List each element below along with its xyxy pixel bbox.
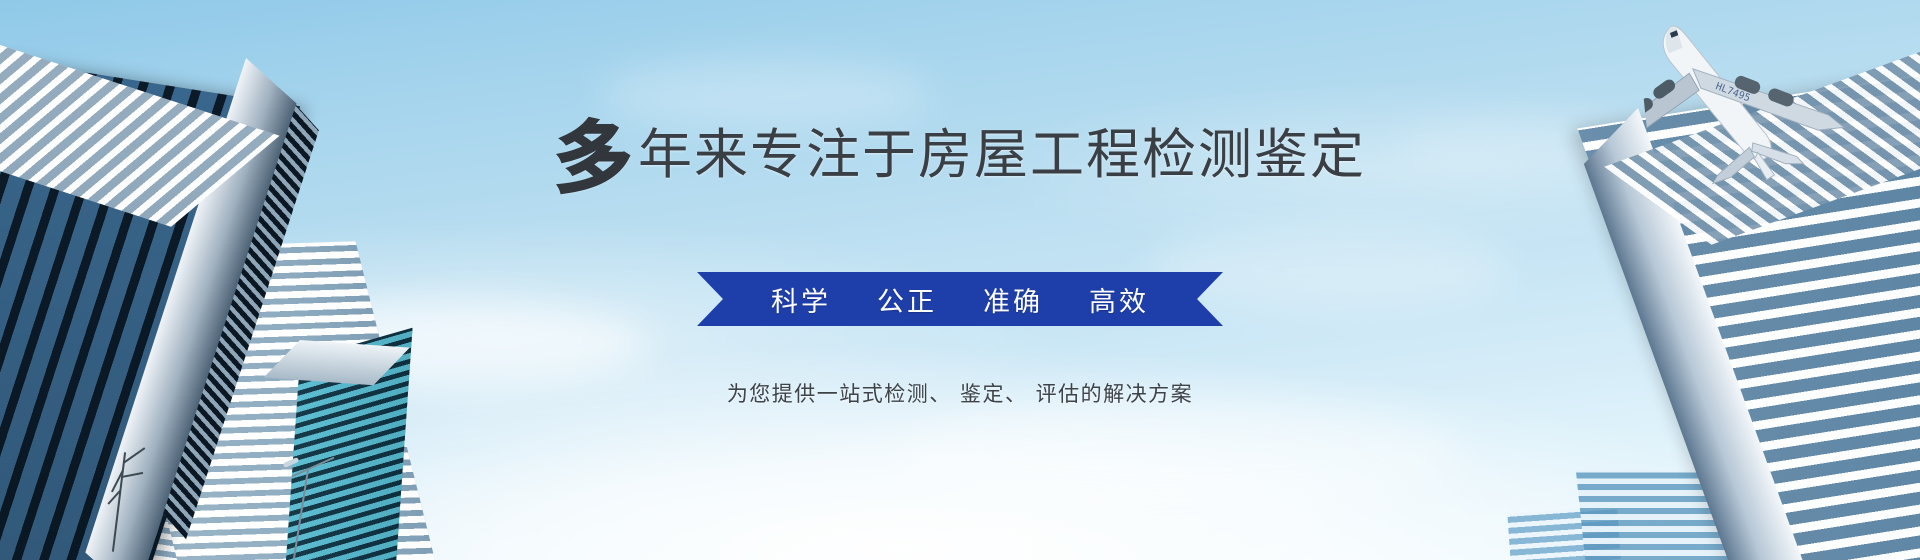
ribbon-container: 科学 公正 准确 高效	[0, 272, 1920, 326]
page-title: 多 年来专注于房屋工程检测鉴定	[0, 120, 1920, 190]
page-subtitle: 为您提供一站式检测、 鉴定、 评估的解决方案	[0, 378, 1920, 408]
headline-rest: 年来专注于房屋工程检测鉴定	[638, 128, 1366, 182]
headline-lead-char: 多	[554, 124, 634, 194]
hero-banner: HL7495 多 年来专注于房屋工程检测鉴定 科学 公正 准确 高效 为您提供一…	[0, 0, 1920, 560]
ribbon-item-0: 科学	[771, 280, 831, 319]
cloud	[900, 400, 1460, 510]
ribbon-item-3: 高效	[1089, 280, 1149, 319]
ribbon-item-1: 公正	[877, 280, 937, 319]
ribbon-item-2: 准确	[983, 280, 1043, 319]
value-ribbon: 科学 公正 准确 高效	[697, 272, 1223, 326]
